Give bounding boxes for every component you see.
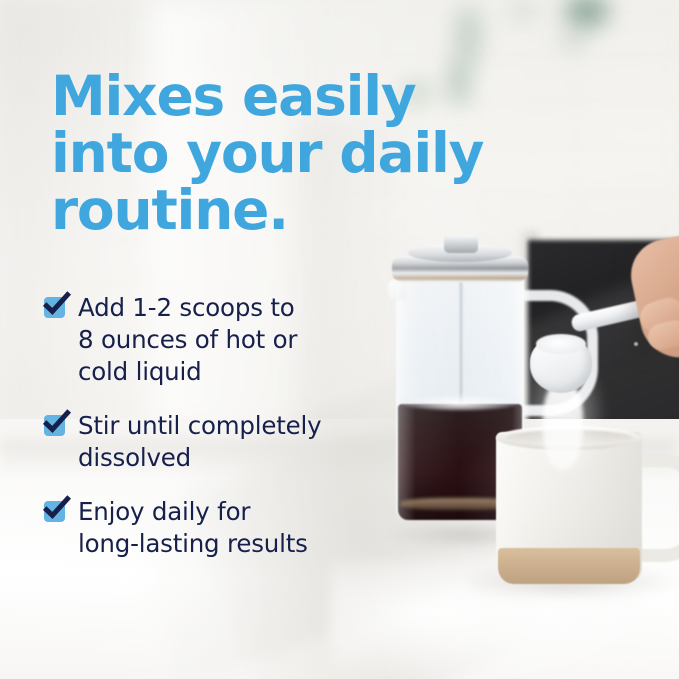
text-overlay: Mixes easily into your daily routine. Ad… — [0, 0, 679, 679]
list-item: Stir until completely dissolved — [44, 410, 384, 474]
headline-line-2: into your daily — [51, 125, 521, 182]
headline-line-3: routine. — [51, 182, 521, 239]
list-item: Add 1-2 scoops to 8 ounces of hot or col… — [44, 292, 384, 388]
list-item-line: cold liquid — [78, 356, 297, 388]
list-item-label: Add 1-2 scoops to 8 ounces of hot or col… — [78, 292, 297, 388]
list-item-line: Add 1-2 scoops to — [78, 292, 297, 324]
instruction-list: Add 1-2 scoops to 8 ounces of hot or col… — [44, 292, 384, 560]
list-item-label: Stir until completely dissolved — [78, 410, 321, 474]
headline-line-1: Mixes easily — [51, 68, 521, 125]
list-item-line: Enjoy daily for — [78, 496, 308, 528]
list-item-line: long-lasting results — [78, 528, 308, 560]
checkbox-checked-icon — [44, 297, 65, 318]
list-item-label: Enjoy daily for long-lasting results — [78, 496, 308, 560]
product-lifestyle-image: Mixes easily into your daily routine. Ad… — [0, 0, 679, 679]
checkbox-checked-icon — [44, 501, 65, 522]
list-item: Enjoy daily for long-lasting results — [44, 496, 384, 560]
list-item-line: Stir until completely — [78, 410, 321, 442]
checkbox-checked-icon — [44, 415, 65, 436]
headline: Mixes easily into your daily routine. — [51, 68, 521, 239]
list-item-line: 8 ounces of hot or — [78, 324, 297, 356]
list-item-line: dissolved — [78, 442, 321, 474]
